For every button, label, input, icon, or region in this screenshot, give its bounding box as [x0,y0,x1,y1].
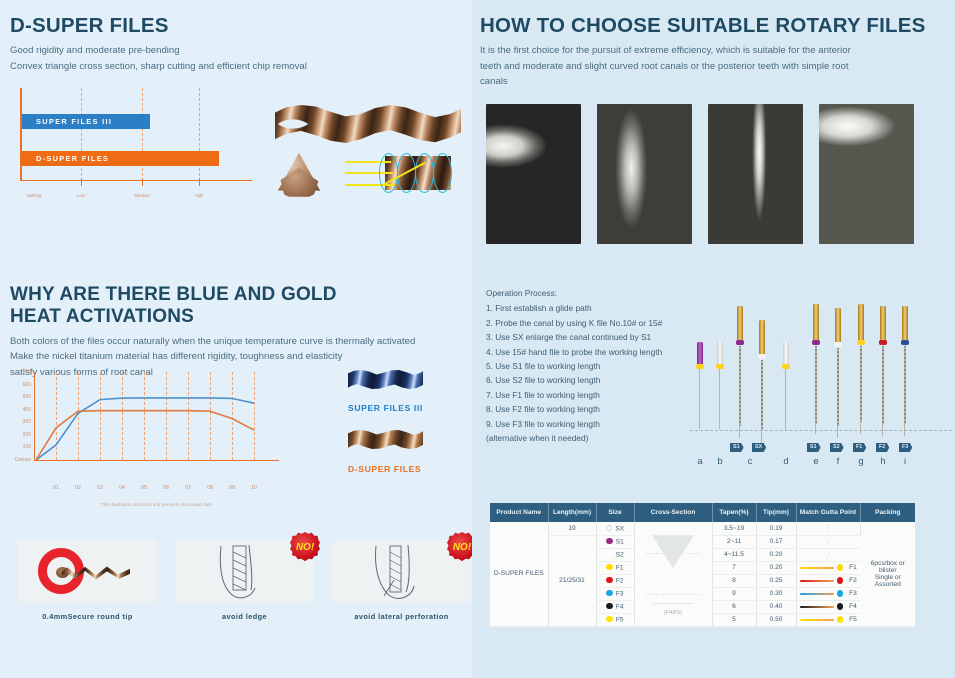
cell-gutta-point: F4 [796,600,860,613]
cell-taper: 3.5~19 [712,522,756,535]
file-letter-i: i [904,456,906,467]
bar-tick-high [199,178,200,186]
gutta-point-marker: F2 [799,577,859,584]
file-letter-d: d [783,456,788,467]
file-letter-c: c [748,456,753,467]
gutta-taper-line [800,606,834,608]
file-i-ring [879,340,887,345]
bar-label-super-files-iii: SUPER FILES III [22,117,112,126]
cell-size-f4: F4 [596,600,634,613]
heat-section: WHY ARE THERE BLUE AND GOLD HEAT ACTIVAT… [10,284,472,380]
file-baseline [690,430,952,431]
bar-super-files-iii: SUPER FILES III [22,114,150,129]
cell-size-sx: SX [596,522,634,535]
cell-taper: 7 [712,561,756,574]
file-tag-s2: S2 [830,443,844,452]
file-tag-sx: SX [752,443,766,452]
spec-table: Product Name Length(mm) Size Cross-Secti… [490,503,915,627]
gutta-taper-line [800,567,834,569]
gutta-color-dot [837,590,844,597]
file-letter-g: g [858,456,863,467]
cell-packing: 6pcs/box or blisterSingle or Assorted [860,522,915,626]
gutta-empty-slash: ╱ [826,539,830,546]
gutta-color-dot [837,616,844,623]
file-f-ring [812,340,820,345]
heat-subtext-line-2: Make the nickel titanium material has di… [10,349,472,365]
d-super-files-swatch [348,430,423,449]
heat-subtext-line-1: Both colors of the files occur naturally… [10,334,472,350]
cell-gutta-point: ╱ [796,548,860,561]
file-i-handle [880,306,886,340]
col-product-name: Product Name [490,503,548,522]
x-tick-07: 07 [185,482,191,491]
xray-image-4 [819,104,914,244]
file-c-tip [739,424,740,438]
gutta-color-dot [837,577,844,584]
file-f-shaft [815,346,817,424]
cell-taper: 2~11 [712,535,756,548]
cross-section-caption: (F4/F5) [637,610,710,616]
triangle-cross-section-photo [276,152,322,198]
x-tick-01: 01 [53,482,59,491]
file-letter-h: h [880,456,885,467]
cell-gutta-point: ╱ [796,535,860,548]
file-helix-photo [275,105,461,143]
file-tag-f2: F2 [876,443,889,452]
cell-tip: 0.17 [756,535,796,548]
subtext-line-2: Convex triangle cross section, sharp cut… [10,59,472,75]
file-f-handle [813,304,819,340]
file-c-shaft [739,346,741,426]
cell-product-name: D-SUPER FILES [490,522,548,626]
file-g-ring [834,342,842,347]
file-tag-f3: F3 [899,443,912,452]
cell-size-s2: S2 [596,548,634,561]
bar-label-low: Low [77,193,85,198]
xray-image-2 [597,104,692,244]
cell-gutta-point: F1 [796,561,860,574]
super-files-iii-swatch-label: SUPER FILES III [348,403,423,413]
file-c-handle [737,306,743,340]
file-c-ring [736,340,744,345]
file-a-shaft [699,369,700,429]
cell-length-19: 19 [548,522,596,535]
cell-size-f3: F3 [596,587,634,600]
file-g-tip [837,424,838,438]
chip-ring-1 [379,153,398,193]
cell-size-f2: F2 [596,574,634,587]
curve-super-files-iii [36,398,254,460]
x-tick-02: 02 [75,482,81,491]
chip-ring-3 [415,153,434,193]
card-avoid-lateral-perforation: NO! avoid lateral perforation [332,540,471,621]
product-subtext: Good rigidity and moderate pre-bending C… [10,43,472,74]
size-color-dot [606,564,613,571]
temperature-line-chart: Celsius 100 200 300 400 500 600 700 [34,372,279,482]
right-subtext: It is the first choice for the pursuit o… [480,43,955,90]
file-j-tip [904,422,905,436]
bar-tick-medium [142,178,143,186]
bar-label-nothing: Nothing [27,193,42,198]
x-tick-06: 06 [163,482,169,491]
file-h-shaft [860,346,862,422]
file-d-shaft [761,360,763,430]
size-color-dot [606,551,613,558]
x-tick-09: 09 [229,482,235,491]
y-tick-100: 100 [23,444,34,450]
file-d-handle [759,320,765,354]
gutta-taper-line [800,593,834,595]
cell-size-s1: S1 [596,535,634,548]
file-h-tip [860,420,861,434]
file-g-handle [835,308,841,342]
card-caption-secure-tip: 0.4mmSecure round tip [18,612,157,621]
col-size: Size [596,503,634,522]
right-page-title: HOW TO CHOOSE SUITABLE ROTARY FILES [480,14,955,37]
subtext-line-1: Good rigidity and moderate pre-bending [10,43,472,59]
col-taper: Tapen(%) [712,503,756,522]
y-tick-200: 200 [23,432,34,438]
cell-taper: 5 [712,613,756,626]
gutta-taper-line [800,619,834,621]
y-tick-500: 500 [23,394,34,400]
rigidity-bar-chart: Nothing Low Medium High SUPER FILES III … [20,88,252,198]
operation-process-heading: Operation Process: [486,286,955,300]
cell-tip: 0.20 [756,561,796,574]
cell-tip: 0.19 [756,522,796,535]
file-tag-s1-a: S1 [730,443,744,452]
col-length: Length(mm) [548,503,596,522]
col-tip: Tip(mm) [756,503,796,522]
cross-guide-bottom [646,594,700,595]
bar-label-d-super-files: D-SUPER FILES [22,154,109,163]
file-h-handle [858,304,864,340]
file-tag-s1-b: S1 [807,443,821,452]
d-super-files-swatch-label: D-SUPER FILES [348,464,421,474]
file-b-shaft [719,369,720,429]
usage-cards: 0.4mmSecure round tip NO! avoid ledge [18,540,471,621]
table-row: D-SUPER FILES19SX(F4/F5)3.5~190.19╱6pcs/… [490,522,915,535]
card-caption-avoid-ledge: avoid ledge [175,612,314,621]
cell-taper: 4~11.5 [712,548,756,561]
y-tick-400: 400 [23,407,34,413]
gutta-empty-slash: ╱ [826,525,830,532]
bar-chart-x-axis [20,180,252,182]
right-subtext-line-3: canals [480,74,955,90]
file-i-tip [882,422,883,436]
gutta-color-dot [837,603,844,610]
bar-label-medium: Medium [134,193,149,198]
chip-ring-4 [433,153,452,193]
file-h-ring [857,340,865,345]
card-avoid-ledge: NO! avoid ledge [175,540,314,621]
card-image-secure-tip [18,540,157,602]
cell-gutta-point: ╱ [796,522,860,535]
size-color-dot [606,616,613,623]
y-label-celsius: Celsius [15,457,34,463]
right-subtext-line-1: It is the first choice for the pursuit o… [480,43,955,59]
spec-table-header-row: Product Name Length(mm) Size Cross-Secti… [490,503,915,522]
file-j-ring [901,340,909,345]
bar-grid-medium [142,88,143,181]
cell-tip: 0.20 [756,548,796,561]
size-color-dot [606,590,613,597]
file-letter-e: e [813,456,818,467]
cross-triangle-top [652,535,694,568]
bar-grid-low [81,88,82,181]
card-secure-round-tip: 0.4mmSecure round tip [18,540,157,621]
heat-title-line-2: HEAT ACTIVATIONS [10,306,472,328]
gutta-point-marker: F4 [799,603,859,610]
left-panel: D-SUPER FILES Good rigidity and moderate… [0,0,472,678]
xray-gallery [486,104,955,244]
cross-section-art [646,531,700,609]
cell-gutta-point: F5 [796,613,860,626]
gutta-color-dot [837,564,844,571]
bar-label-high: High [195,193,204,198]
xray-image-3 [708,104,803,244]
x-tick-08: 08 [207,482,213,491]
col-gutta-point: Match Gutta Point [796,503,860,522]
cell-tip: 0.50 [756,613,796,626]
x-tick-03: 03 [97,482,103,491]
cell-taper: 8 [712,574,756,587]
file-j-shaft [904,346,906,424]
y-tick-600: 600 [23,382,34,388]
file-g-shaft [837,348,839,426]
cell-tip: 0.40 [756,600,796,613]
file-letter-b: b [717,456,722,467]
file-f-tip [815,422,816,434]
bar-d-super-files: D-SUPER FILES [22,151,219,166]
curve-d-super-files [36,411,254,460]
gutta-point-marker: F5 [799,616,859,623]
bar-grid-high [199,88,200,181]
page-title: D-SUPER FILES [10,14,472,37]
size-color-dot [606,603,613,610]
size-color-dot [606,538,613,545]
cell-tip: 0.25 [756,574,796,587]
right-subtext-line-2: teeth and moderate and slight curved roo… [480,59,955,75]
cell-length-rest: 21/25/31 [548,535,596,626]
file-d-ring [758,354,766,359]
gutta-point-marker: F1 [799,564,859,571]
y-tick-700: 700 [23,369,34,375]
cross-triangle-bottom [652,571,694,604]
file-letter-a: a [697,456,702,467]
x-tick-04: 04 [119,482,125,491]
cross-section-shade [278,168,320,198]
cell-gutta-point: F3 [796,587,860,600]
packing-line-2: Single or Assorted [863,574,914,588]
gutta-taper-line [800,580,834,582]
file-a-handle [697,342,703,364]
file-e-shaft [785,369,786,431]
cell-tip: 0.30 [756,587,796,600]
cell-taper: 6 [712,600,756,613]
packing-line-1: 6pcs/box or blister [863,560,914,574]
col-cross-section: Cross-Section [634,503,712,522]
card-caption-avoid-perforation: avoid lateral perforation [332,612,471,621]
gutta-point-marker: F3 [799,590,859,597]
cell-size-f5: F5 [596,613,634,626]
col-packing: Packing [860,503,915,522]
card-image-avoid-ledge: NO! [175,540,314,602]
chart-caption: This illustration abstracts and presents… [101,502,212,507]
size-color-dot [606,525,613,532]
bar-tick-low [81,178,82,186]
xray-image-1 [486,104,581,244]
file-e-handle [783,342,789,364]
file-i-shaft [882,346,884,424]
heat-title-line-1: WHY ARE THERE BLUE AND GOLD [10,284,472,306]
cell-cross-section: (F4/F5) [634,522,712,626]
size-color-dot [606,577,613,584]
cell-taper: 9 [712,587,756,600]
file-letter-f: f [837,456,840,467]
card-image-avoid-perforation: NO! [332,540,471,602]
file-tag-f1: F1 [853,443,866,452]
file-sequence-diagram: S1 SX S1 S2 F1 F2 F3 a b c d e f g h i [690,300,952,480]
gutta-empty-slash: ╱ [826,552,830,559]
bar-chart-y-axis [20,88,22,181]
x-tick-10: 10 [251,482,257,491]
cell-gutta-point: F2 [796,574,860,587]
x-tick-05: 05 [141,482,147,491]
file-b-handle [717,342,723,364]
cell-size-f1: F1 [596,561,634,574]
cross-guide-top [646,553,700,554]
line-chart-curves [34,372,279,462]
flute-cutting-diagram [345,150,455,198]
y-tick-300: 300 [23,419,34,425]
file-j-handle [902,306,908,340]
brochure-page: D-SUPER FILES Good rigidity and moderate… [0,0,955,678]
